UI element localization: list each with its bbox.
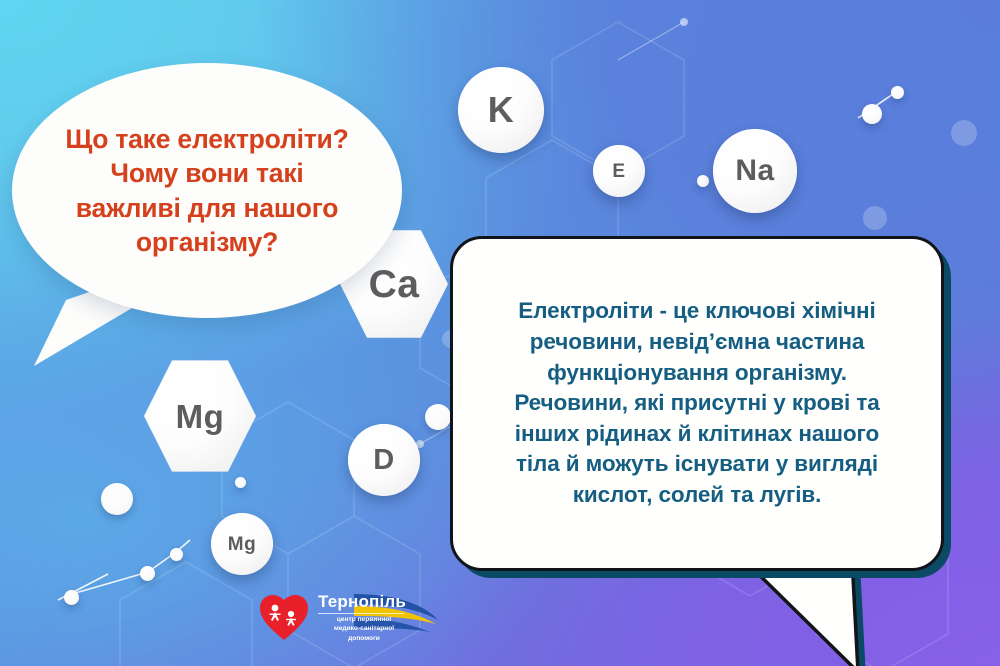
decor-dot — [235, 477, 246, 488]
infographic-canvas: K E Na Ca Mg D Mg Що таке електроліти? Ч… — [0, 0, 1000, 666]
question-line-1: Що таке електроліти? — [65, 122, 348, 156]
question-line-2: Чому вони такі — [65, 156, 348, 190]
answer-line-4: Речовини, які присутні у крові та — [514, 388, 879, 419]
answer-bubble-text: Електроліти - це ключові хімічні речовин… — [494, 296, 899, 510]
decor-dot — [697, 175, 709, 187]
decor-dot — [101, 483, 133, 515]
logo-subtitle: центр первинної медико-санітарної допомо… — [318, 615, 410, 643]
element-token-e: E — [593, 145, 645, 197]
element-token-mg-circle: Mg — [211, 513, 273, 575]
answer-line-3: функціонування організму. — [514, 358, 879, 389]
decor-dot — [862, 104, 882, 124]
answer-line-2: речовини, невід’ємна частина — [514, 327, 879, 358]
answer-line-1: Електроліти - це ключові хімічні — [514, 296, 879, 327]
heart-icon — [260, 595, 308, 640]
decor-dot-faint — [863, 206, 887, 230]
answer-line-6: тіла й можуть існувати у вигляді — [514, 449, 879, 480]
element-token-k: K — [458, 67, 544, 153]
answer-bubble: Електроліти - це ключові хімічні речовин… — [450, 236, 944, 571]
answer-line-5: інших рідинах й клітинах нашого — [514, 419, 879, 450]
decor-dot — [425, 404, 451, 430]
logo-subtitle-line-2: медико-санітарної — [318, 624, 410, 633]
decor-dot — [140, 566, 155, 581]
element-token-d: D — [348, 424, 420, 496]
decor-dot — [891, 86, 904, 99]
logo-divider — [318, 613, 404, 614]
decor-dot-faint — [951, 120, 977, 146]
decor-dot — [170, 548, 183, 561]
question-bubble-text: Що таке електроліти? Чому вони такі важл… — [37, 122, 376, 260]
question-line-3: важливі для нашого — [65, 191, 348, 225]
ternopil-health-center-logo: Тернопіль центр первинної медико-санітар… — [258, 586, 444, 648]
logo-subtitle-line-1: центр первинної — [318, 615, 410, 624]
logo-title: Тернопіль — [318, 592, 406, 612]
decor-dot — [64, 590, 79, 605]
question-line-4: організму? — [65, 225, 348, 259]
question-bubble: Що таке електроліти? Чому вони такі важл… — [12, 63, 402, 318]
answer-line-7: кислот, солей та лугів. — [514, 480, 879, 511]
logo-subtitle-line-3: допомоги — [318, 634, 410, 643]
element-token-na: Na — [713, 129, 797, 213]
